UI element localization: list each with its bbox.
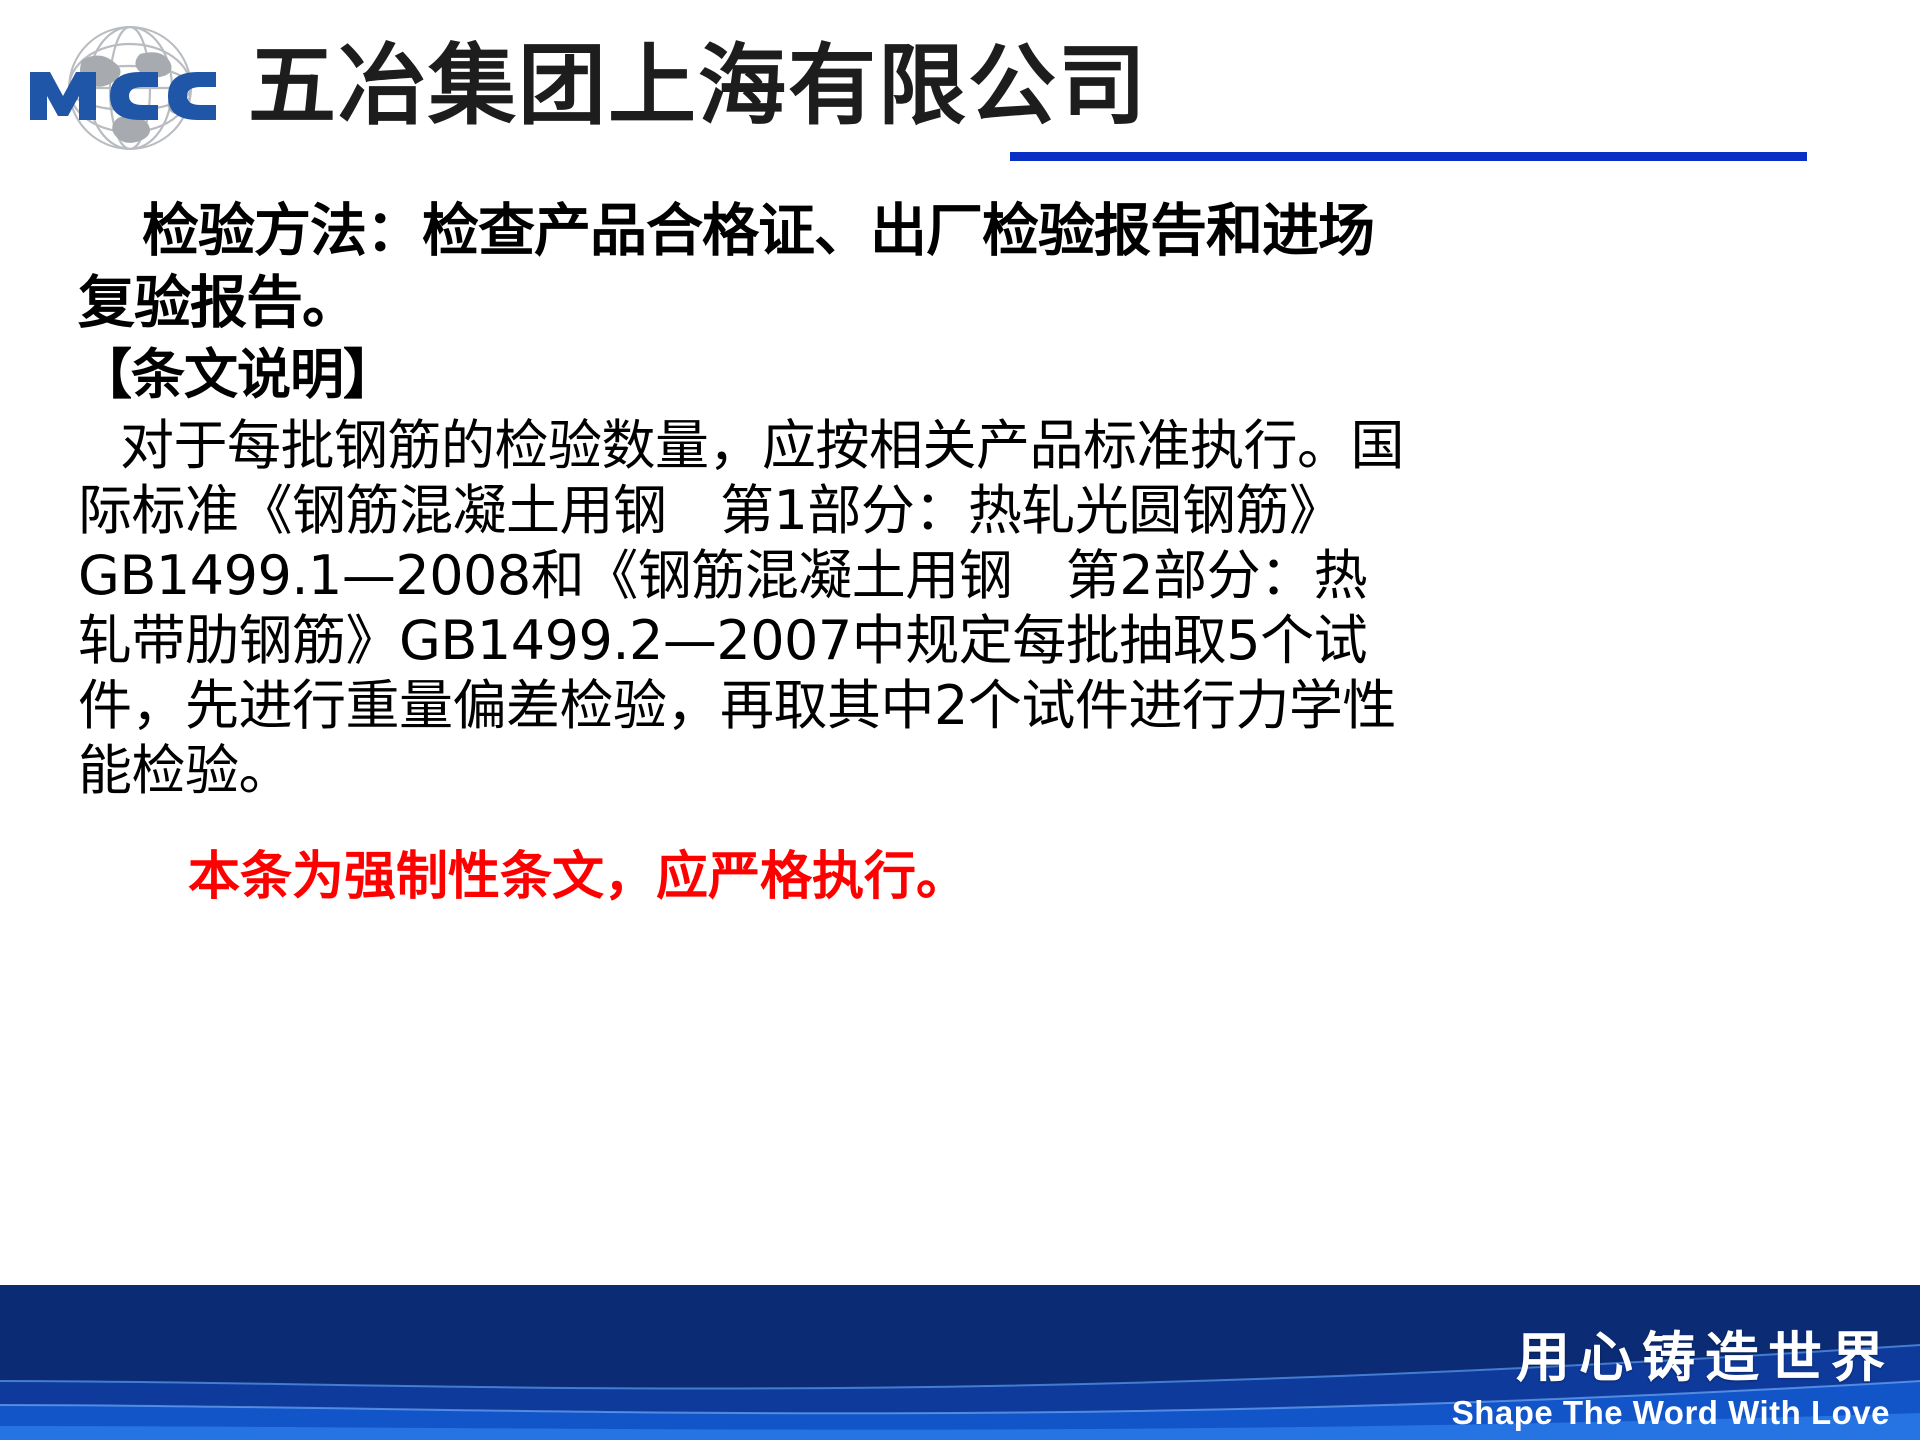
inspection-method-text: 检验方法：检查产品合格证、出厂检验报告和进场复验报告。 [78, 198, 1374, 336]
slide-header: 五冶集团上海有限公司 [0, 0, 1920, 200]
header-accent-rule [1010, 152, 1807, 161]
slide-body: 检验方法：检查产品合格证、出厂检验报告和进场复验报告。 【条文说明】 对于每批钢… [78, 195, 1838, 909]
slide-canvas: 五冶集团上海有限公司 检验方法：检查产品合格证、出厂检验报告和进场复验报告。 【… [0, 0, 1920, 1440]
footer-slogan-chinese: 用心铸造世界 [1516, 1313, 1894, 1392]
slide-footer: 用心铸造世界 Shape The Word With Love [0, 1285, 1920, 1440]
explanation-text: 对于每批钢筋的检验数量，应按相关产品标准执行。国际标准《钢筋混凝土用钢 第1部分… [78, 414, 1404, 802]
section-title: 【条文说明】 [78, 341, 1838, 409]
mcc-globe-logo-icon [22, 24, 247, 152]
mandatory-clause-note: 本条为强制性条文，应严格执行。 [78, 845, 1838, 909]
footer-slogan-english: Shape The Word With Love [1452, 1394, 1890, 1432]
company-name: 五冶集团上海有限公司 [248, 36, 1148, 136]
explanation-paragraph: 对于每批钢筋的检验数量，应按相关产品标准执行。国际标准《钢筋混凝土用钢 第1部分… [78, 413, 1408, 803]
inspection-method-paragraph: 检验方法：检查产品合格证、出厂检验报告和进场复验报告。 [78, 195, 1418, 339]
